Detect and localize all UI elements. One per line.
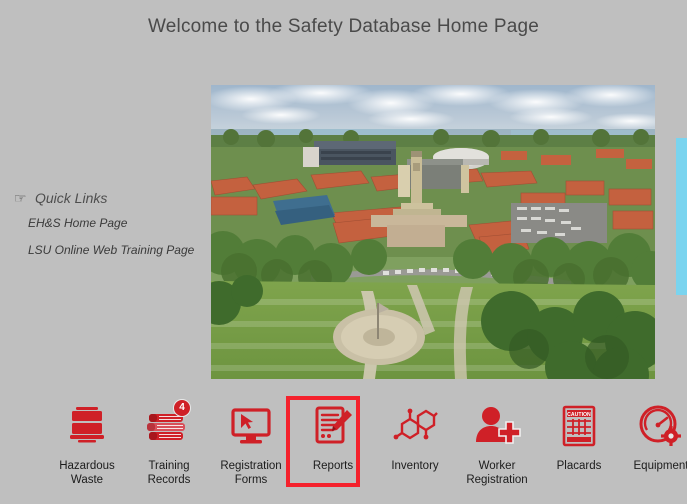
vertical-scrollbar-thumb[interactable] (676, 138, 687, 295)
svg-text:CAUTION: CAUTION (567, 412, 591, 418)
nav-label-hazardous-waste: Hazardous Waste (44, 459, 130, 487)
campus-aerial-photo (211, 85, 655, 379)
nav-label-placards: Placards (536, 459, 622, 473)
nav-item-inventory[interactable]: Inventory (376, 393, 454, 473)
drum-icon (66, 403, 108, 451)
quick-link-ehs-home[interactable]: EH&S Home Page (28, 216, 204, 230)
molecule-icon (392, 403, 438, 451)
nav-item-equipment[interactable]: Equipment (622, 393, 687, 473)
main-navigation-bar: Hazardous Waste (0, 393, 687, 504)
books-icon: 4 (145, 403, 193, 451)
nav-item-placards[interactable]: CAUTION Placards (540, 393, 618, 473)
quick-link-lsu-training[interactable]: LSU Online Web Training Page (28, 243, 204, 257)
nav-label-equipment: Equipment (618, 459, 687, 473)
page-title: Welcome to the Safety Database Home Page (0, 16, 687, 38)
quick-links-heading: ☞ Quick Links (14, 190, 204, 206)
training-records-badge: 4 (173, 399, 191, 417)
nav-label-training-records: Training Records (126, 459, 212, 487)
caution-placard-icon: CAUTION (559, 403, 599, 451)
nav-item-training-records[interactable]: 4 Training Records (130, 393, 208, 487)
pointing-hand-icon: ☞ (14, 191, 30, 205)
nav-label-inventory: Inventory (372, 459, 458, 473)
monitor-cursor-icon (228, 403, 274, 451)
nav-item-hazardous-waste[interactable]: Hazardous Waste (48, 393, 126, 487)
quick-links-heading-label: Quick Links (35, 190, 107, 206)
nav-item-worker-registration[interactable]: Worker Registration (458, 393, 536, 487)
nav-item-reports[interactable]: Reports (294, 393, 372, 473)
nav-label-worker-registration: Worker Registration (454, 459, 540, 487)
document-pencil-icon (311, 403, 355, 451)
nav-item-registration-forms[interactable]: Registration Forms (212, 393, 290, 487)
nav-label-registration-forms: Registration Forms (208, 459, 294, 487)
home-page: Welcome to the Safety Database Home Page… (0, 0, 687, 504)
person-plus-icon (473, 403, 521, 451)
nav-label-reports: Reports (290, 459, 376, 473)
quick-links-panel: ☞ Quick Links EH&S Home Page LSU Online … (14, 190, 204, 257)
gauge-gear-icon (638, 403, 684, 451)
